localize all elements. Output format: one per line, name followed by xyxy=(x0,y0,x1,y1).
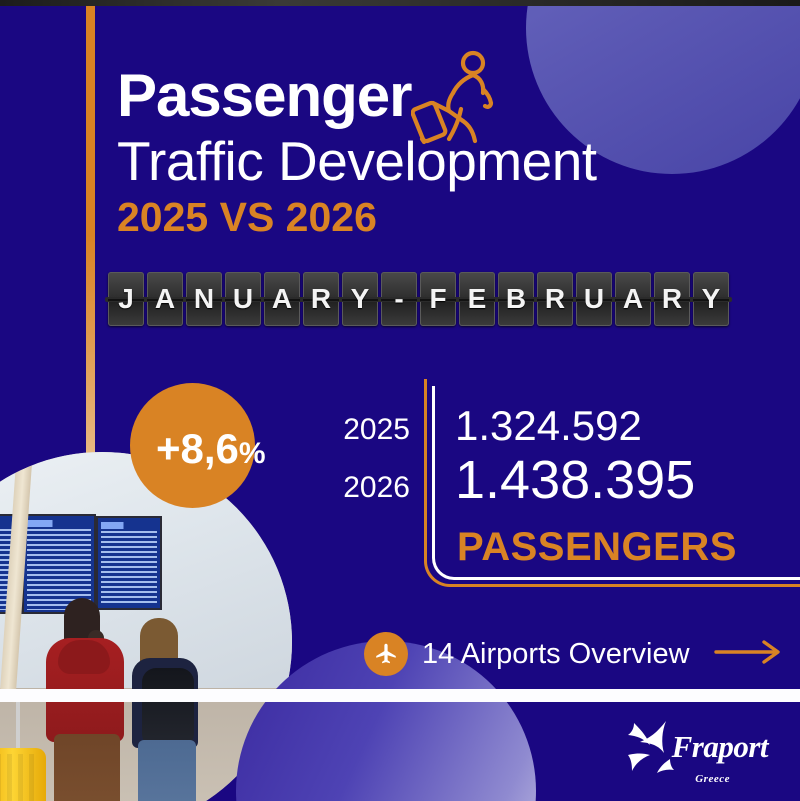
page-subtitle: Traffic Development xyxy=(117,132,597,191)
flip-tile-letter: Y xyxy=(351,285,370,313)
logo-subtitle: Greece xyxy=(695,773,730,785)
passenger-figures: 1.324.592 1.438.395 xyxy=(455,405,695,507)
departure-board-3 xyxy=(96,516,162,610)
flip-tile: Y xyxy=(342,272,378,326)
airplane-icon xyxy=(364,632,408,676)
cta-label: 14 Airports Overview xyxy=(422,638,690,671)
page-title: Passenger xyxy=(117,66,597,126)
traveler-one-trousers xyxy=(54,734,120,801)
flip-tile-letter: U xyxy=(233,285,253,313)
flip-tile-letter: B xyxy=(506,285,526,313)
flip-tile-letter: A xyxy=(623,285,643,313)
flip-tile: R xyxy=(303,272,339,326)
flip-tile: R xyxy=(654,272,690,326)
flip-tile-letter: A xyxy=(272,285,292,313)
airports-overview-cta[interactable]: 14 Airports Overview xyxy=(364,632,784,676)
walking-passenger-with-luggage-icon xyxy=(411,49,507,149)
year-label-2026: 2026 xyxy=(300,473,410,503)
yellow-suitcase xyxy=(0,748,46,801)
flip-tile-letter: Y xyxy=(702,285,721,313)
flip-tile-letter: R xyxy=(545,285,565,313)
poster-heading: Passenger Traffic Development 2025 VS 20… xyxy=(117,66,597,238)
growth-percentage: +8,6% xyxy=(156,425,266,473)
year-labels: 2025 2026 xyxy=(300,415,410,503)
growth-value: +8,6 xyxy=(156,425,239,472)
flip-tile: A xyxy=(615,272,651,326)
year-label-2025: 2025 xyxy=(300,415,410,445)
traveler-one-hood xyxy=(58,640,110,674)
flip-tile: A xyxy=(147,272,183,326)
growth-unit: % xyxy=(239,437,266,470)
flip-tile: - xyxy=(381,272,417,326)
white-divider-band xyxy=(0,689,800,702)
flip-tile: R xyxy=(537,272,573,326)
flip-tile-letter: R xyxy=(662,285,682,313)
arrow-right-icon[interactable] xyxy=(714,639,784,670)
flip-tile-letter: N xyxy=(194,285,214,313)
flip-tile: U xyxy=(576,272,612,326)
flip-tile: Y xyxy=(693,272,729,326)
flip-tile-letter: F xyxy=(429,285,446,313)
top-dark-bar xyxy=(0,0,800,6)
flip-tile-letter: A xyxy=(155,285,175,313)
flip-tile: A xyxy=(264,272,300,326)
passengers-2025-value: 1.324.592 xyxy=(455,405,695,447)
traveler-two-backpack xyxy=(142,668,194,748)
flip-tile-letter: J xyxy=(118,285,134,313)
flip-tile: B xyxy=(498,272,534,326)
fraport-greece-logo: Fraport Greece xyxy=(614,715,774,787)
suitcase-handle xyxy=(16,700,20,752)
flip-tile: E xyxy=(459,272,495,326)
flip-tile: N xyxy=(186,272,222,326)
comparison-years-label: 2025 VS 2026 xyxy=(117,197,597,238)
flip-tile-letter: U xyxy=(584,285,604,313)
logo-wordmark: Fraport xyxy=(672,729,768,765)
traveler-two-jeans xyxy=(138,740,196,801)
flip-tile: F xyxy=(420,272,456,326)
flip-tile-letter: - xyxy=(394,285,403,313)
flip-tile: J xyxy=(108,272,144,326)
passengers-2026-value: 1.438.395 xyxy=(455,453,695,507)
flip-tile: U xyxy=(225,272,261,326)
flip-tile-letter: R xyxy=(311,285,331,313)
infographic-poster: Passenger Traffic Development 2025 VS 20… xyxy=(0,0,800,801)
passengers-unit-label: PASSENGERS xyxy=(457,525,737,570)
flip-board-period: J A N U A R Y - F E B R U A R Y xyxy=(108,272,729,326)
flip-tile-letter: E xyxy=(468,285,487,313)
